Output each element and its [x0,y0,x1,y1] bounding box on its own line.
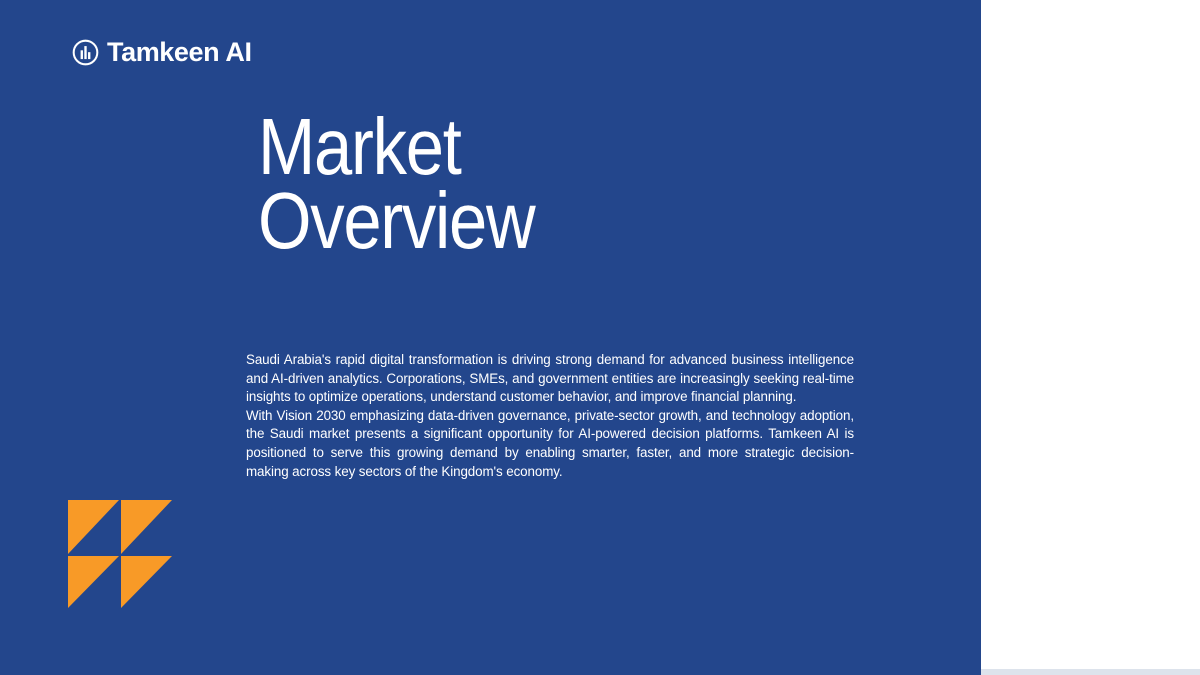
body-paragraph-1: Saudi Arabia's rapid digital transformat… [246,351,854,407]
triangle-top-right [121,500,172,554]
white-side-panel [981,0,1200,675]
bottom-accent-strip [981,669,1200,675]
slide-market-overview: Tamkeen AI Market Overview Saudi Arabia'… [0,0,1200,675]
brand-lockup: Tamkeen AI [72,39,252,66]
body-copy: Saudi Arabia's rapid digital transformat… [246,351,854,481]
tamkeen-logo-icon [72,39,99,66]
triangle-top-left [68,500,119,554]
page-title: Market Overview [258,110,808,257]
orange-triangle-grid-decoration [68,500,172,608]
page-title-line-1: Market [258,110,808,184]
triangle-bottom-right [121,556,172,608]
brand-name: Tamkeen AI [107,39,252,66]
triangle-bottom-left [68,556,119,608]
body-paragraph-2: With Vision 2030 emphasizing data-driven… [246,407,854,481]
page-title-line-2: Overview [258,184,808,258]
